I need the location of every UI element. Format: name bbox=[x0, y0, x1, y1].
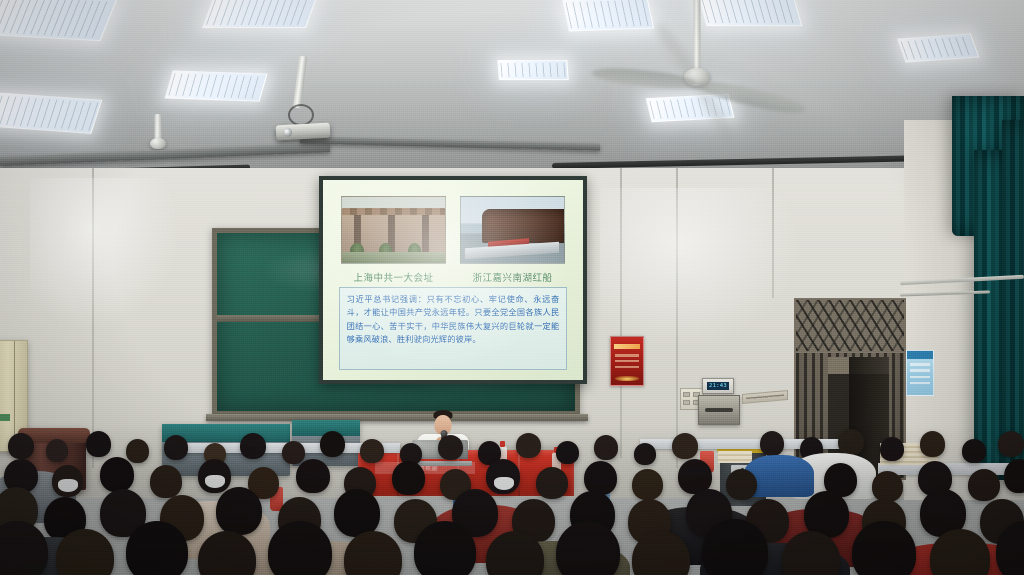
stacked-books bbox=[718, 451, 752, 463]
audience-head bbox=[240, 433, 266, 459]
audience-head bbox=[872, 471, 903, 502]
audience-head bbox=[334, 489, 380, 537]
slide-caption-left: 上海中共一大会址 bbox=[341, 270, 446, 284]
audience-head bbox=[320, 431, 345, 457]
ceiling-fan bbox=[582, 6, 812, 116]
potted-plant bbox=[379, 243, 392, 260]
wall-panel-seam bbox=[676, 168, 678, 468]
cabinet-label-sticker bbox=[0, 414, 10, 422]
audience-head bbox=[216, 487, 262, 535]
audience-head bbox=[344, 531, 402, 575]
face-mask bbox=[205, 475, 225, 488]
red-propaganda-poster bbox=[610, 336, 644, 386]
ceiling-light-panel bbox=[497, 60, 568, 80]
potted-plant bbox=[350, 243, 363, 260]
wall-control-panel[interactable] bbox=[698, 395, 740, 425]
face-mask bbox=[58, 479, 78, 492]
slide-caption-right: 浙江嘉兴南湖红船 bbox=[460, 270, 565, 284]
fan-rod bbox=[155, 114, 162, 140]
audience-head bbox=[536, 467, 568, 499]
audience-head bbox=[282, 441, 305, 464]
slide-quote-textbox: 习近平总书记强调：只有不忘初心、牢记使命、永远奋斗，才能让中国共产党永远年轻。只… bbox=[339, 287, 568, 370]
wall-panel-seam bbox=[92, 168, 94, 468]
audience-head bbox=[8, 433, 34, 459]
audience-head bbox=[672, 433, 698, 459]
clock-time-value: 21:43 bbox=[709, 383, 727, 389]
audience-head bbox=[880, 437, 904, 461]
lecture-hall-photograph: 上海中共一大会址 浙江嘉兴南湖红船 习近平总书记强调：只有不忘初心、牢记使命、永… bbox=[0, 0, 1024, 575]
audience-head bbox=[968, 469, 1000, 501]
notice-text-row bbox=[910, 363, 930, 365]
gate-transom-grille bbox=[796, 300, 904, 353]
slide-caption-row: 上海中共一大会址 浙江嘉兴南湖红船 bbox=[341, 270, 565, 284]
audience-head bbox=[998, 431, 1024, 457]
audience-head bbox=[594, 435, 618, 460]
slide-quote-text: 习近平总书记强调：只有不忘初心、牢记使命、永远奋斗，才能让中国共产党永远年轻。只… bbox=[347, 293, 560, 346]
audience-head bbox=[516, 433, 541, 458]
poster-title-band bbox=[614, 344, 641, 350]
boat-red-hull bbox=[488, 238, 529, 248]
audience-head bbox=[556, 441, 579, 464]
audience-head bbox=[634, 443, 656, 465]
poster-text-row bbox=[615, 366, 639, 368]
digital-clock-display: 21:43 bbox=[702, 378, 734, 394]
wall-discoloration bbox=[600, 188, 800, 348]
audience-head bbox=[268, 521, 332, 575]
notice-text-row bbox=[910, 376, 930, 378]
shikumen-building-photo bbox=[341, 196, 446, 264]
audience-head bbox=[838, 429, 864, 455]
ceiling-light-panel bbox=[202, 0, 318, 28]
wall-panel-seam bbox=[772, 168, 774, 298]
audience-head bbox=[726, 469, 757, 500]
slide-image-row bbox=[341, 196, 565, 264]
audience-head bbox=[438, 435, 463, 460]
switch-rocker[interactable] bbox=[683, 392, 690, 397]
poster-gold-emblem bbox=[615, 376, 638, 380]
ceiling-light-panel bbox=[164, 70, 267, 101]
audience-head bbox=[360, 439, 384, 463]
chalk-tray bbox=[206, 414, 588, 421]
audience-head bbox=[100, 457, 134, 492]
fan-rod bbox=[694, 0, 701, 70]
switch-rocker[interactable] bbox=[683, 400, 690, 405]
audience-head bbox=[56, 529, 114, 575]
audience-head bbox=[852, 521, 916, 575]
audience-head bbox=[760, 431, 784, 456]
projector-lens bbox=[283, 128, 292, 137]
building-roof bbox=[342, 208, 445, 216]
audience-head bbox=[920, 431, 945, 457]
audience-head bbox=[930, 529, 990, 575]
face-mask bbox=[494, 477, 514, 490]
blue-wall-notice-sign bbox=[906, 350, 934, 396]
audience-head bbox=[164, 435, 188, 460]
audience-head bbox=[150, 465, 182, 498]
audience-head bbox=[46, 439, 68, 462]
audience-head bbox=[632, 469, 663, 500]
notice-text-row bbox=[910, 369, 930, 371]
control-panel-slot bbox=[705, 408, 732, 412]
clock-lcd: 21:43 bbox=[707, 382, 730, 390]
wall-discoloration bbox=[30, 178, 180, 328]
audience-head bbox=[126, 521, 188, 575]
audience-head bbox=[584, 461, 617, 495]
projection-screen: 上海中共一大会址 浙江嘉兴南湖红船 习近平总书记强调：只有不忘初心、牢记使命、永… bbox=[323, 180, 583, 380]
audience-head bbox=[126, 439, 149, 463]
ceiling-light-panel bbox=[0, 0, 117, 41]
projector bbox=[276, 123, 331, 141]
poster-text-row bbox=[615, 360, 639, 362]
notice-text-row bbox=[910, 382, 930, 384]
audience-head bbox=[392, 461, 425, 495]
ceiling-light-panel bbox=[0, 92, 102, 134]
projection-screen-frame: 上海中共一大会址 浙江嘉兴南湖红船 习近平总书记强调：只有不忘初心、牢记使命、永… bbox=[319, 176, 587, 384]
audience-head bbox=[962, 439, 986, 463]
wall-panel-seam bbox=[620, 168, 622, 458]
seated-student-audience bbox=[0, 425, 1024, 575]
potted-plant bbox=[408, 243, 421, 260]
notice-header-band bbox=[907, 351, 933, 359]
audience-head bbox=[1004, 459, 1024, 493]
red-boat-nanhu-photo bbox=[460, 196, 565, 264]
audience-head bbox=[296, 459, 330, 493]
audience-head bbox=[86, 431, 111, 457]
audience-head bbox=[414, 521, 476, 575]
poster-text-row bbox=[615, 354, 639, 356]
audience-head bbox=[0, 521, 48, 575]
